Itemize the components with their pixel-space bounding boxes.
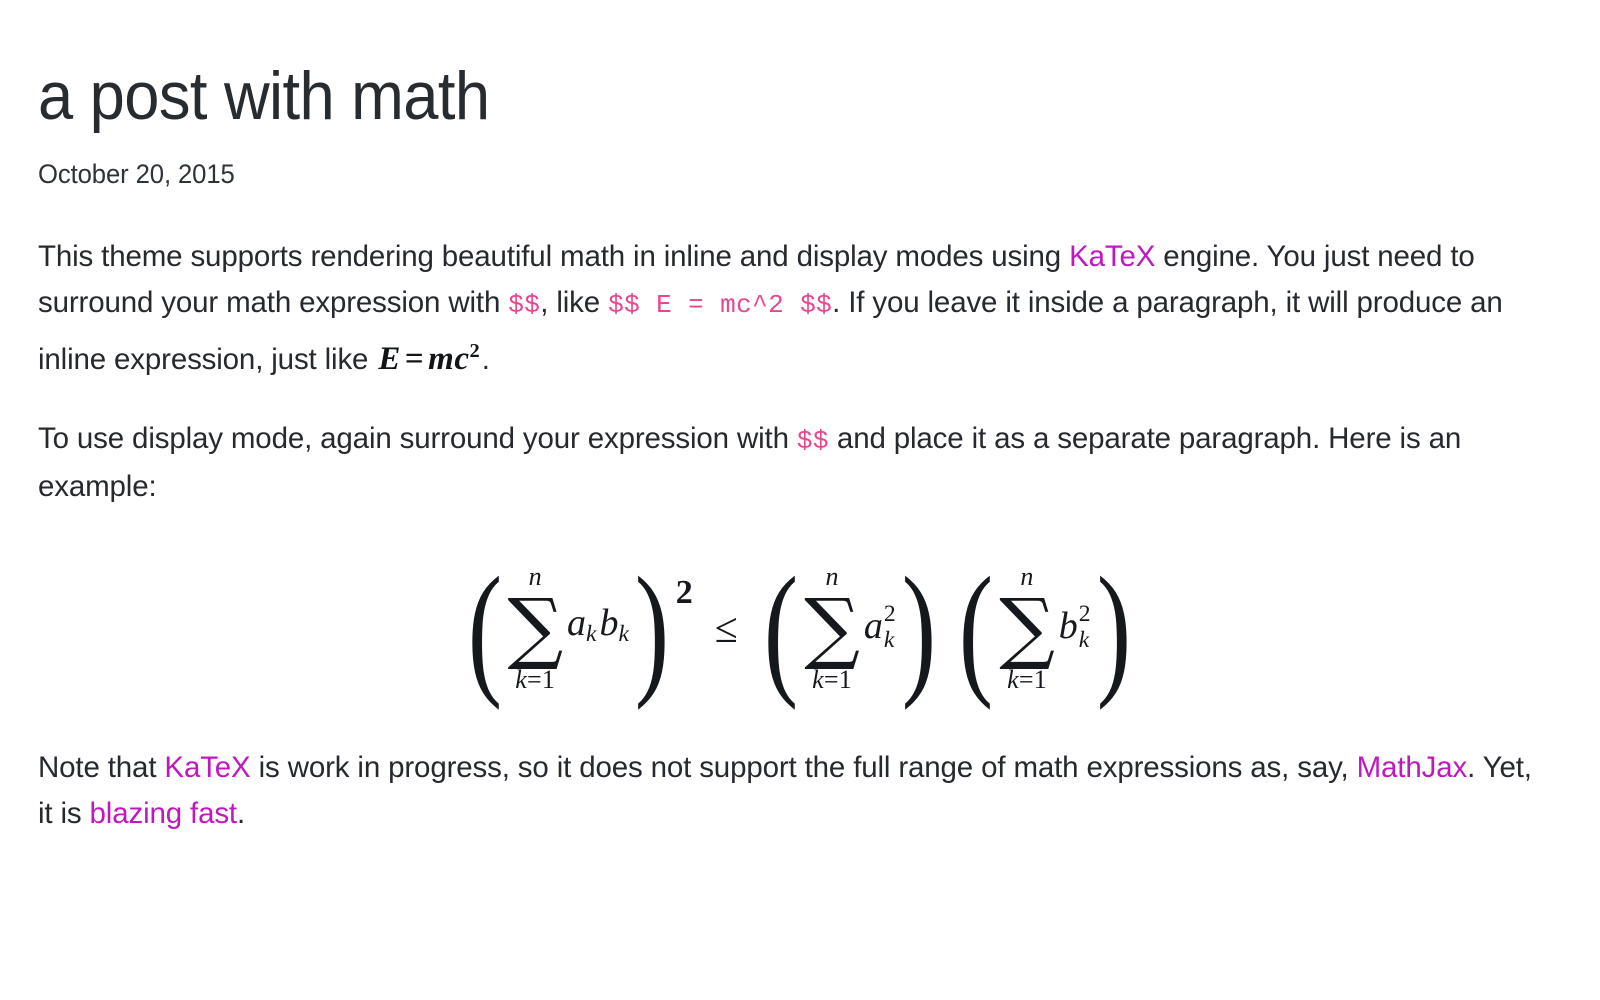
term-a: a: [567, 602, 586, 644]
math-rhs: mc: [428, 341, 469, 377]
term-sup-sub-stack: 2k: [1079, 603, 1091, 653]
code-math-example: $$ E = mc^2 $$: [608, 290, 832, 320]
text-segment: .: [482, 343, 490, 376]
sum-index-value: 1: [1034, 665, 1047, 694]
link-katex[interactable]: KaTeX: [1069, 240, 1155, 273]
term-superscript: 2: [884, 603, 896, 627]
term-superscript: 2: [1079, 603, 1091, 627]
sum-index-equals: =: [527, 665, 542, 694]
summation-3: n ∑ k=1: [999, 564, 1055, 693]
post-date: October 20, 2015: [38, 159, 1484, 190]
sum-sigma-icon: ∑: [507, 593, 563, 665]
term-a-squared: a2k: [864, 603, 896, 654]
sum-lower-limit: k=1: [1007, 667, 1047, 693]
post-body: This theme supports rendering beautiful …: [38, 234, 1560, 837]
paragraph-display-mode: To use display mode, again surround your…: [38, 416, 1533, 510]
sum-index-equals: =: [1019, 665, 1034, 694]
term-a-k: ak: [567, 600, 596, 657]
sum-index-value: 1: [542, 665, 555, 694]
sum-index-var: k: [812, 665, 824, 694]
sum-index-var: k: [515, 665, 527, 694]
term-a-subscript: k: [586, 621, 596, 647]
link-mathjax[interactable]: MathJax: [1357, 751, 1467, 784]
term-subscript: k: [884, 629, 894, 653]
term-base: b: [1059, 605, 1078, 647]
text-segment: Note that: [38, 751, 164, 784]
paren-close: ): [635, 573, 669, 685]
math-group-rhs-a: ( n ∑ k=1 a2k ): [759, 564, 940, 693]
term-sup-sub-stack: 2k: [884, 603, 896, 653]
summation-2: n ∑ k=1: [804, 564, 860, 693]
math-group-rhs-b: ( n ∑ k=1 b2k ): [954, 564, 1135, 693]
text-segment: To use display mode, again surround your…: [38, 422, 797, 455]
sum-lower-limit: k=1: [515, 667, 555, 693]
sum-index-value: 1: [839, 665, 852, 694]
code-dollar-delimiters: $$: [508, 290, 540, 320]
page-title: a post with math: [38, 62, 1453, 131]
code-dollar-delimiters: $$: [797, 426, 829, 456]
paragraph-intro: This theme supports rendering beautiful …: [38, 234, 1533, 383]
paren-open: (: [764, 573, 798, 685]
sum-index-equals: =: [824, 665, 839, 694]
paren-open: (: [467, 573, 501, 685]
text-segment: , like: [540, 286, 608, 319]
link-blazing-fast[interactable]: blazing fast: [90, 797, 237, 830]
text-segment: is work in progress, so it does not supp…: [251, 751, 1357, 784]
relation-less-equal: ≤: [715, 606, 738, 652]
sum-sigma-icon: ∑: [804, 593, 860, 665]
math-operator: =: [401, 341, 428, 377]
post-page: a post with math October 20, 2015 This t…: [0, 0, 1600, 837]
term-b-squared: b2k: [1059, 603, 1091, 654]
sum-sigma-icon: ∑: [999, 593, 1055, 665]
math-exponent: 2: [470, 340, 480, 362]
term-b-k: bk: [599, 600, 628, 657]
term-base: a: [864, 605, 883, 647]
term-subscript: k: [1079, 629, 1089, 653]
paragraph-note: Note that KaTeX is work in progress, so …: [38, 745, 1533, 837]
text-segment: This theme supports rendering beautiful …: [38, 240, 1069, 273]
math-lhs: E: [378, 341, 401, 377]
paren-close: ): [901, 573, 935, 685]
inline-math-emc2: E=mc2: [376, 341, 481, 377]
text-segment: .: [237, 797, 245, 830]
paren-open: (: [959, 573, 993, 685]
sum-lower-limit: k=1: [812, 667, 852, 693]
term-b-subscript: k: [618, 621, 628, 647]
term-b: b: [599, 602, 618, 644]
math-group-lhs: ( n ∑ k=1 ak bk ) 2: [463, 564, 693, 693]
display-math-cauchy-schwarz: ( n ∑ k=1 ak bk ) 2 ≤ ( n ∑ k=1: [38, 564, 1560, 693]
summation-1: n ∑ k=1: [507, 564, 563, 693]
sum-index-var: k: [1007, 665, 1019, 694]
link-katex[interactable]: KaTeX: [164, 751, 250, 784]
paren-close: ): [1096, 573, 1130, 685]
group-exponent: 2: [676, 570, 693, 616]
